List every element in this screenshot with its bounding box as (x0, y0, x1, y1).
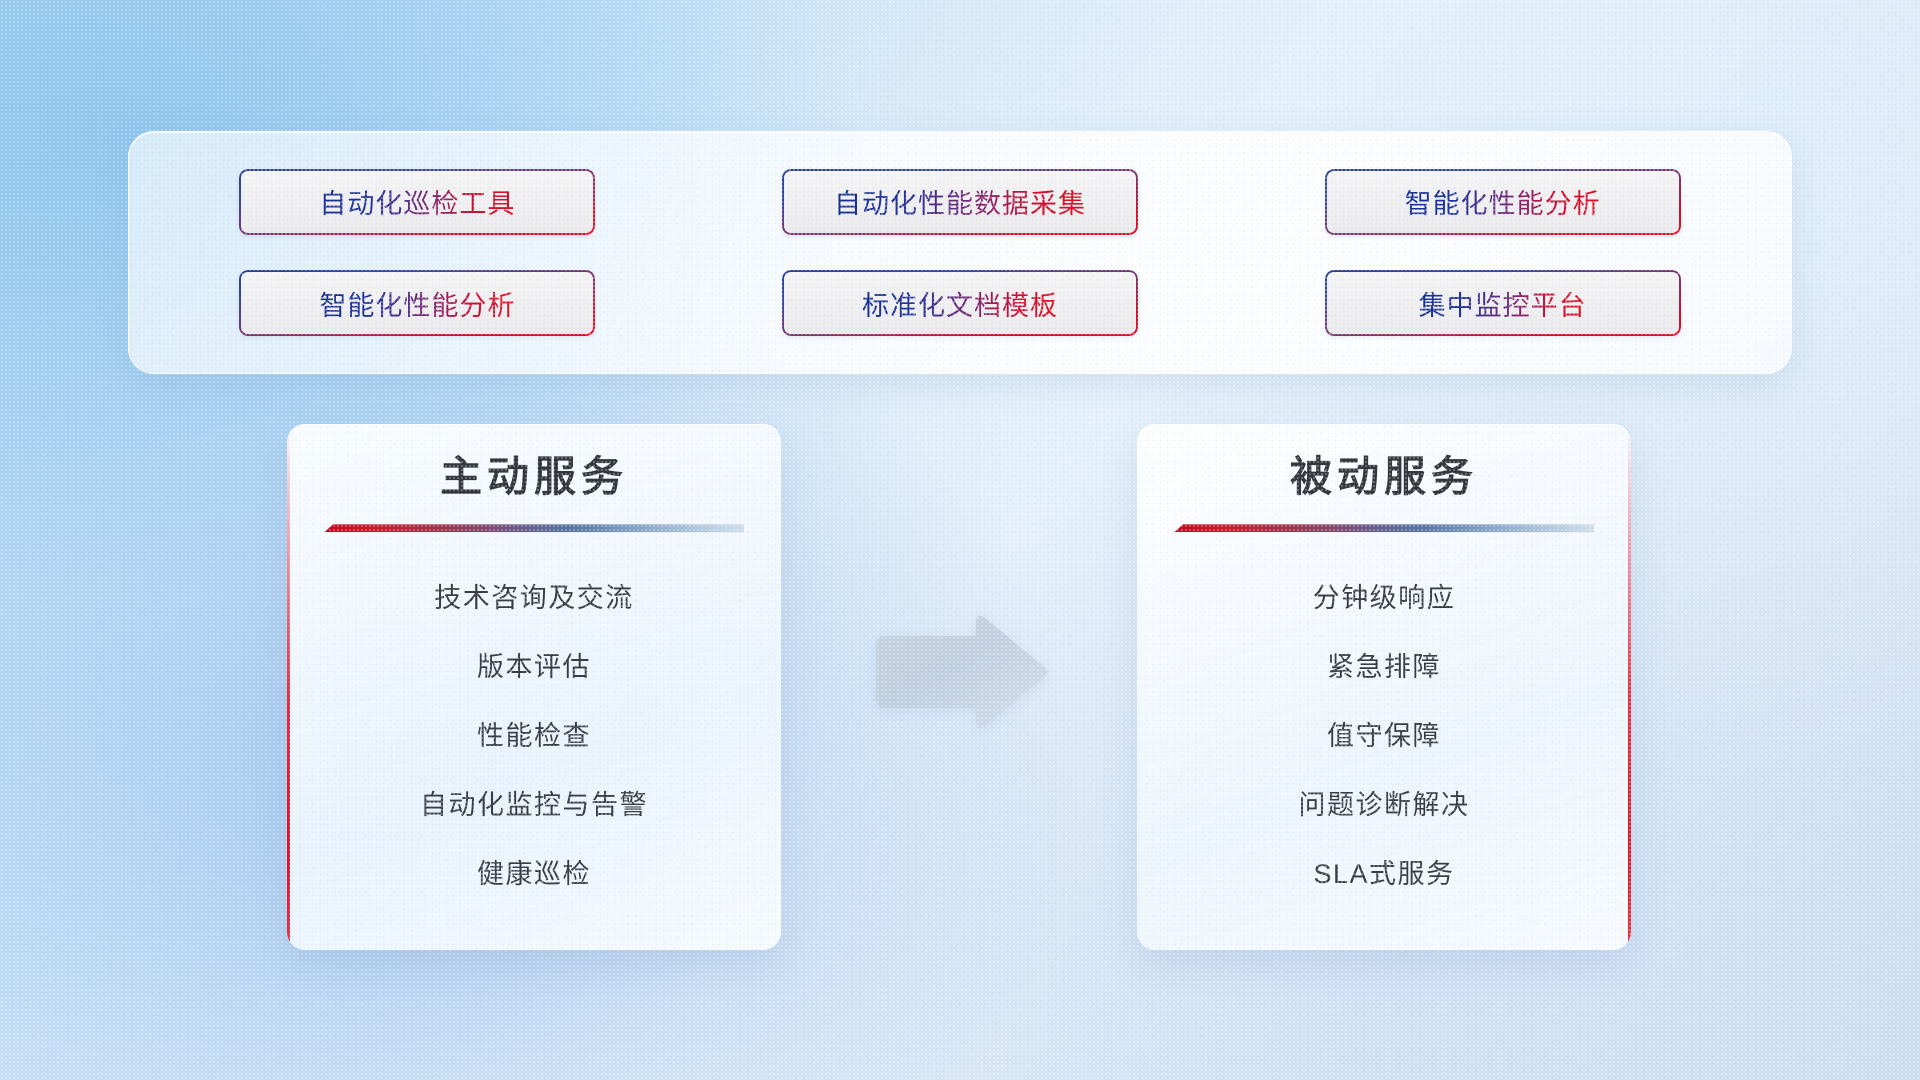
card-accent-edge (1628, 424, 1631, 950)
chip-label: 集中监控平台 (1419, 284, 1587, 323)
capability-chip-standardized-document-template[interactable]: 标准化文档模板 (782, 270, 1138, 336)
chip-label: 智能化性能分析 (1405, 182, 1601, 221)
card-item-list: 技术咨询及交流 版本评估 性能检查 自动化监控与告警 健康巡检 (287, 576, 781, 891)
chip-label: 智能化性能分析 (319, 284, 515, 323)
capability-chip-intelligent-performance-analysis-1[interactable]: 智能化性能分析 (1325, 169, 1681, 235)
capability-chip-centralized-monitoring-platform[interactable]: 集中监控平台 (1325, 270, 1681, 336)
chip-label: 标准化文档模板 (862, 284, 1058, 323)
list-item: 紧急排障 (1327, 645, 1441, 684)
arrow-right-icon (870, 612, 1052, 732)
list-item: 问题诊断解决 (1299, 783, 1470, 822)
list-item: 健康巡检 (477, 852, 591, 891)
capability-chip-intelligent-performance-analysis-2[interactable]: 智能化性能分析 (239, 270, 595, 336)
capability-panel: 自动化巡检工具 自动化性能数据采集 智能化性能分析 智能化性能分析 标准化文档模… (128, 131, 1792, 374)
list-item: 分钟级响应 (1313, 576, 1456, 615)
card-item-list: 分钟级响应 紧急排障 值守保障 问题诊断解决 SLA式服务 (1137, 576, 1631, 891)
service-card-reactive[interactable]: 被动服务 分钟级响应 紧急排障 值守保障 问题诊断解决 SLA式服务 (1137, 424, 1631, 950)
card-title: 主动服务 (287, 452, 781, 502)
list-item: 值守保障 (1327, 714, 1441, 753)
list-item: 自动化监控与告警 (420, 783, 648, 822)
chip-label: 自动化巡检工具 (319, 182, 515, 221)
capability-chip-automated-inspection-tool[interactable]: 自动化巡检工具 (239, 169, 595, 235)
list-item: SLA式服务 (1313, 852, 1454, 891)
capability-chip-automated-performance-data-collection[interactable]: 自动化性能数据采集 (782, 169, 1138, 235)
card-accent-edge (287, 424, 290, 950)
chip-label: 自动化性能数据采集 (834, 182, 1086, 221)
card-divider (324, 524, 744, 532)
list-item: 性能检查 (477, 714, 591, 753)
slide-canvas: 自动化巡检工具 自动化性能数据采集 智能化性能分析 智能化性能分析 标准化文档模… (0, 0, 1920, 1080)
card-divider (1174, 524, 1594, 532)
list-item: 版本评估 (477, 645, 591, 684)
list-item: 技术咨询及交流 (434, 576, 634, 615)
card-title: 被动服务 (1137, 452, 1631, 502)
service-card-proactive[interactable]: 主动服务 技术咨询及交流 版本评估 性能检查 自动化监控与告警 健康巡检 (287, 424, 781, 950)
